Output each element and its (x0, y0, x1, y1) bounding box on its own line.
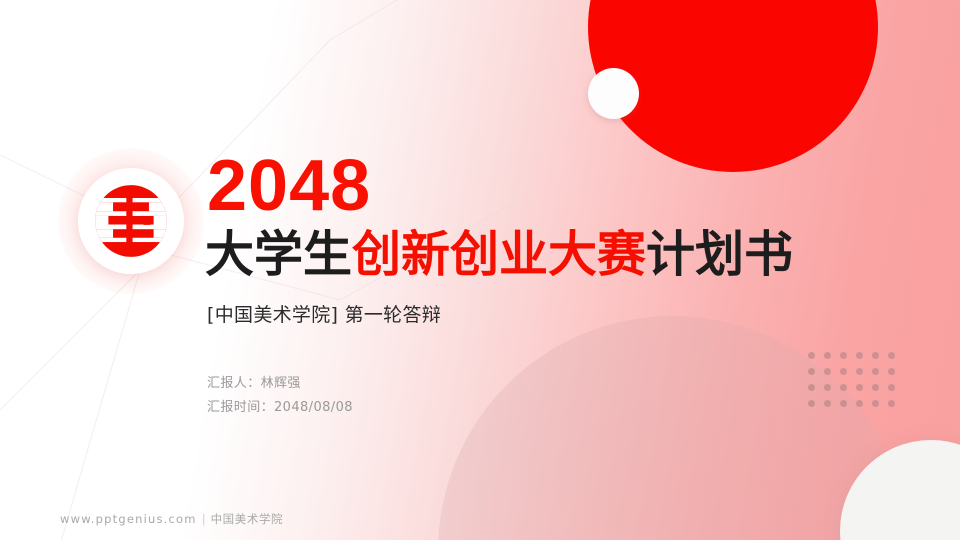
title-segment-black-2: 计划书 (646, 226, 793, 283)
page-title: 大学生创新创业大赛计划书 (205, 228, 793, 283)
date-line: 汇报时间：2048/08/08 (207, 396, 353, 420)
presentation-meta: 汇报人：林辉强 汇报时间：2048/08/08 (207, 372, 353, 420)
seal-emblem-icon (92, 182, 170, 260)
title-segment-black-1: 大学生 (205, 226, 352, 283)
footer: www.pptgenius.com|中国美术学院 (60, 511, 283, 527)
institution-logo (72, 162, 190, 280)
footer-organization: 中国美术学院 (211, 512, 284, 526)
title-segment-red: 创新创业大赛 (352, 226, 646, 283)
presenter-line: 汇报人：林辉强 (207, 372, 353, 396)
page-subtitle: [中国美术学院] 第一轮答辩 (207, 300, 441, 327)
footer-separator: | (197, 512, 211, 526)
title-slide: 2048 大学生创新创业大赛计划书 [中国美术学院] 第一轮答辩 汇报人：林辉强… (0, 0, 960, 540)
white-dot-decoration (588, 68, 639, 119)
footer-website: www.pptgenius.com (60, 512, 197, 526)
page-title-year: 2048 (207, 150, 371, 222)
dot-grid-decoration (808, 352, 904, 416)
